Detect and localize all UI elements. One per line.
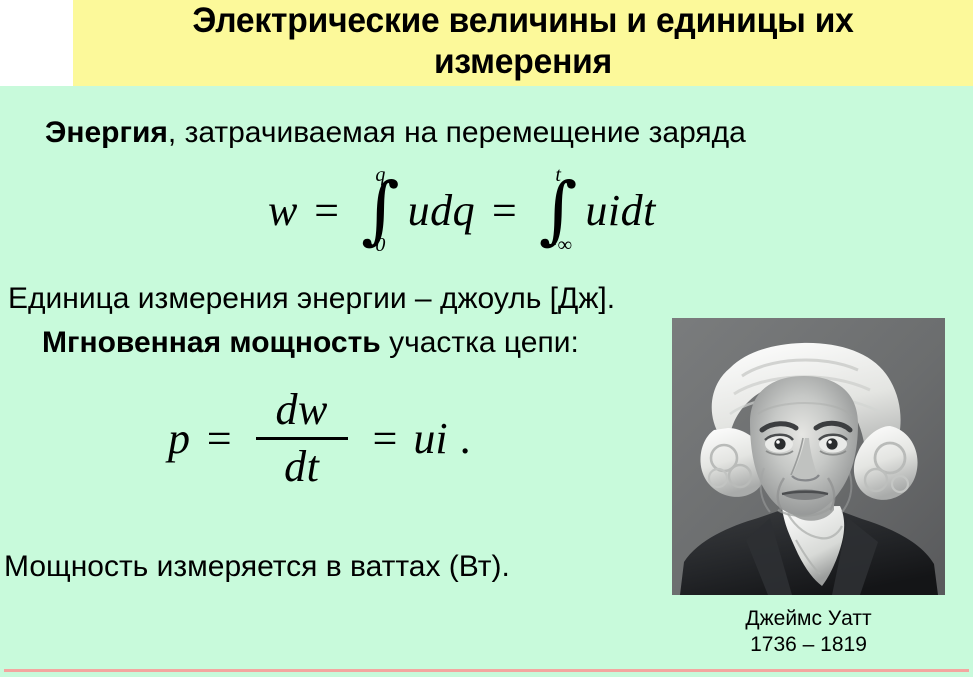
integral-sign-icon: ∫ (361, 179, 400, 242)
portrait-james-watt (672, 318, 945, 595)
formula-energy-equals-2: = (489, 185, 519, 236)
formula-power-equals-2: = (370, 413, 400, 464)
formula-energy-lhs: w (268, 185, 297, 236)
header-band: Электрические величины и единицы их изме… (0, 0, 973, 86)
energy-intro-rest: , затрачиваемая на перемещение заряда (168, 116, 746, 149)
portrait-image (672, 318, 945, 595)
integral-time-operand: uidt (585, 185, 655, 236)
energy-intro-bold: Энергия (45, 116, 168, 149)
formula-energy: w = q ∫ 0 udq = t ∫ −∞ uidt (268, 160, 656, 260)
fraction-bar (256, 437, 348, 440)
slide-canvas: Электрические величины и единицы их изме… (0, 0, 973, 677)
portrait-caption-years: 1736 – 1819 (672, 632, 945, 658)
joule-unit-line: Единица измерения энергии – джоуль [Дж]. (8, 281, 615, 317)
instant-power-bold: Мгновенная мощность (42, 326, 381, 359)
page-title-line-1: Электрические величины и единицы их (192, 0, 853, 41)
integral-charge: q ∫ 0 (361, 162, 400, 258)
bottom-rule (4, 669, 969, 672)
formula-power-terminator: . (460, 413, 471, 464)
derivative-fraction: dw dt (256, 387, 348, 490)
portrait-caption-name: Джеймс Уатт (672, 606, 945, 632)
formula-power-lhs: p (168, 413, 190, 464)
fraction-numerator: dw (270, 387, 334, 435)
page-title: Электрические величины и единицы их изме… (91, 0, 955, 86)
watt-unit-line: Мощность измеряется в ваттах (Вт). (4, 549, 510, 585)
integral-time: t ∫ −∞ (539, 162, 578, 258)
integral-sign-icon: ∫ (539, 179, 578, 242)
formula-energy-equals-1: = (311, 185, 341, 236)
formula-power: p = dw dt = ui . (168, 378, 471, 498)
page-title-line-2: измерения (434, 41, 612, 82)
header-white-block (0, 0, 73, 86)
integral-charge-operand: udq (408, 185, 476, 236)
instant-power-rest: участка цепи: (381, 326, 579, 359)
fraction-denominator: dt (278, 442, 325, 490)
formula-power-rhs: ui (413, 413, 447, 464)
integral-charge-lower-limit: 0 (375, 235, 385, 255)
energy-intro-line: Энергия, затрачиваемая на перемещение за… (45, 115, 746, 151)
integral-time-lower-limit: −∞ (544, 235, 572, 255)
instant-power-line: Мгновенная мощность участка цепи: (42, 325, 579, 361)
formula-power-equals-1: = (204, 413, 234, 464)
portrait-caption: Джеймс Уатт 1736 – 1819 (672, 606, 945, 658)
